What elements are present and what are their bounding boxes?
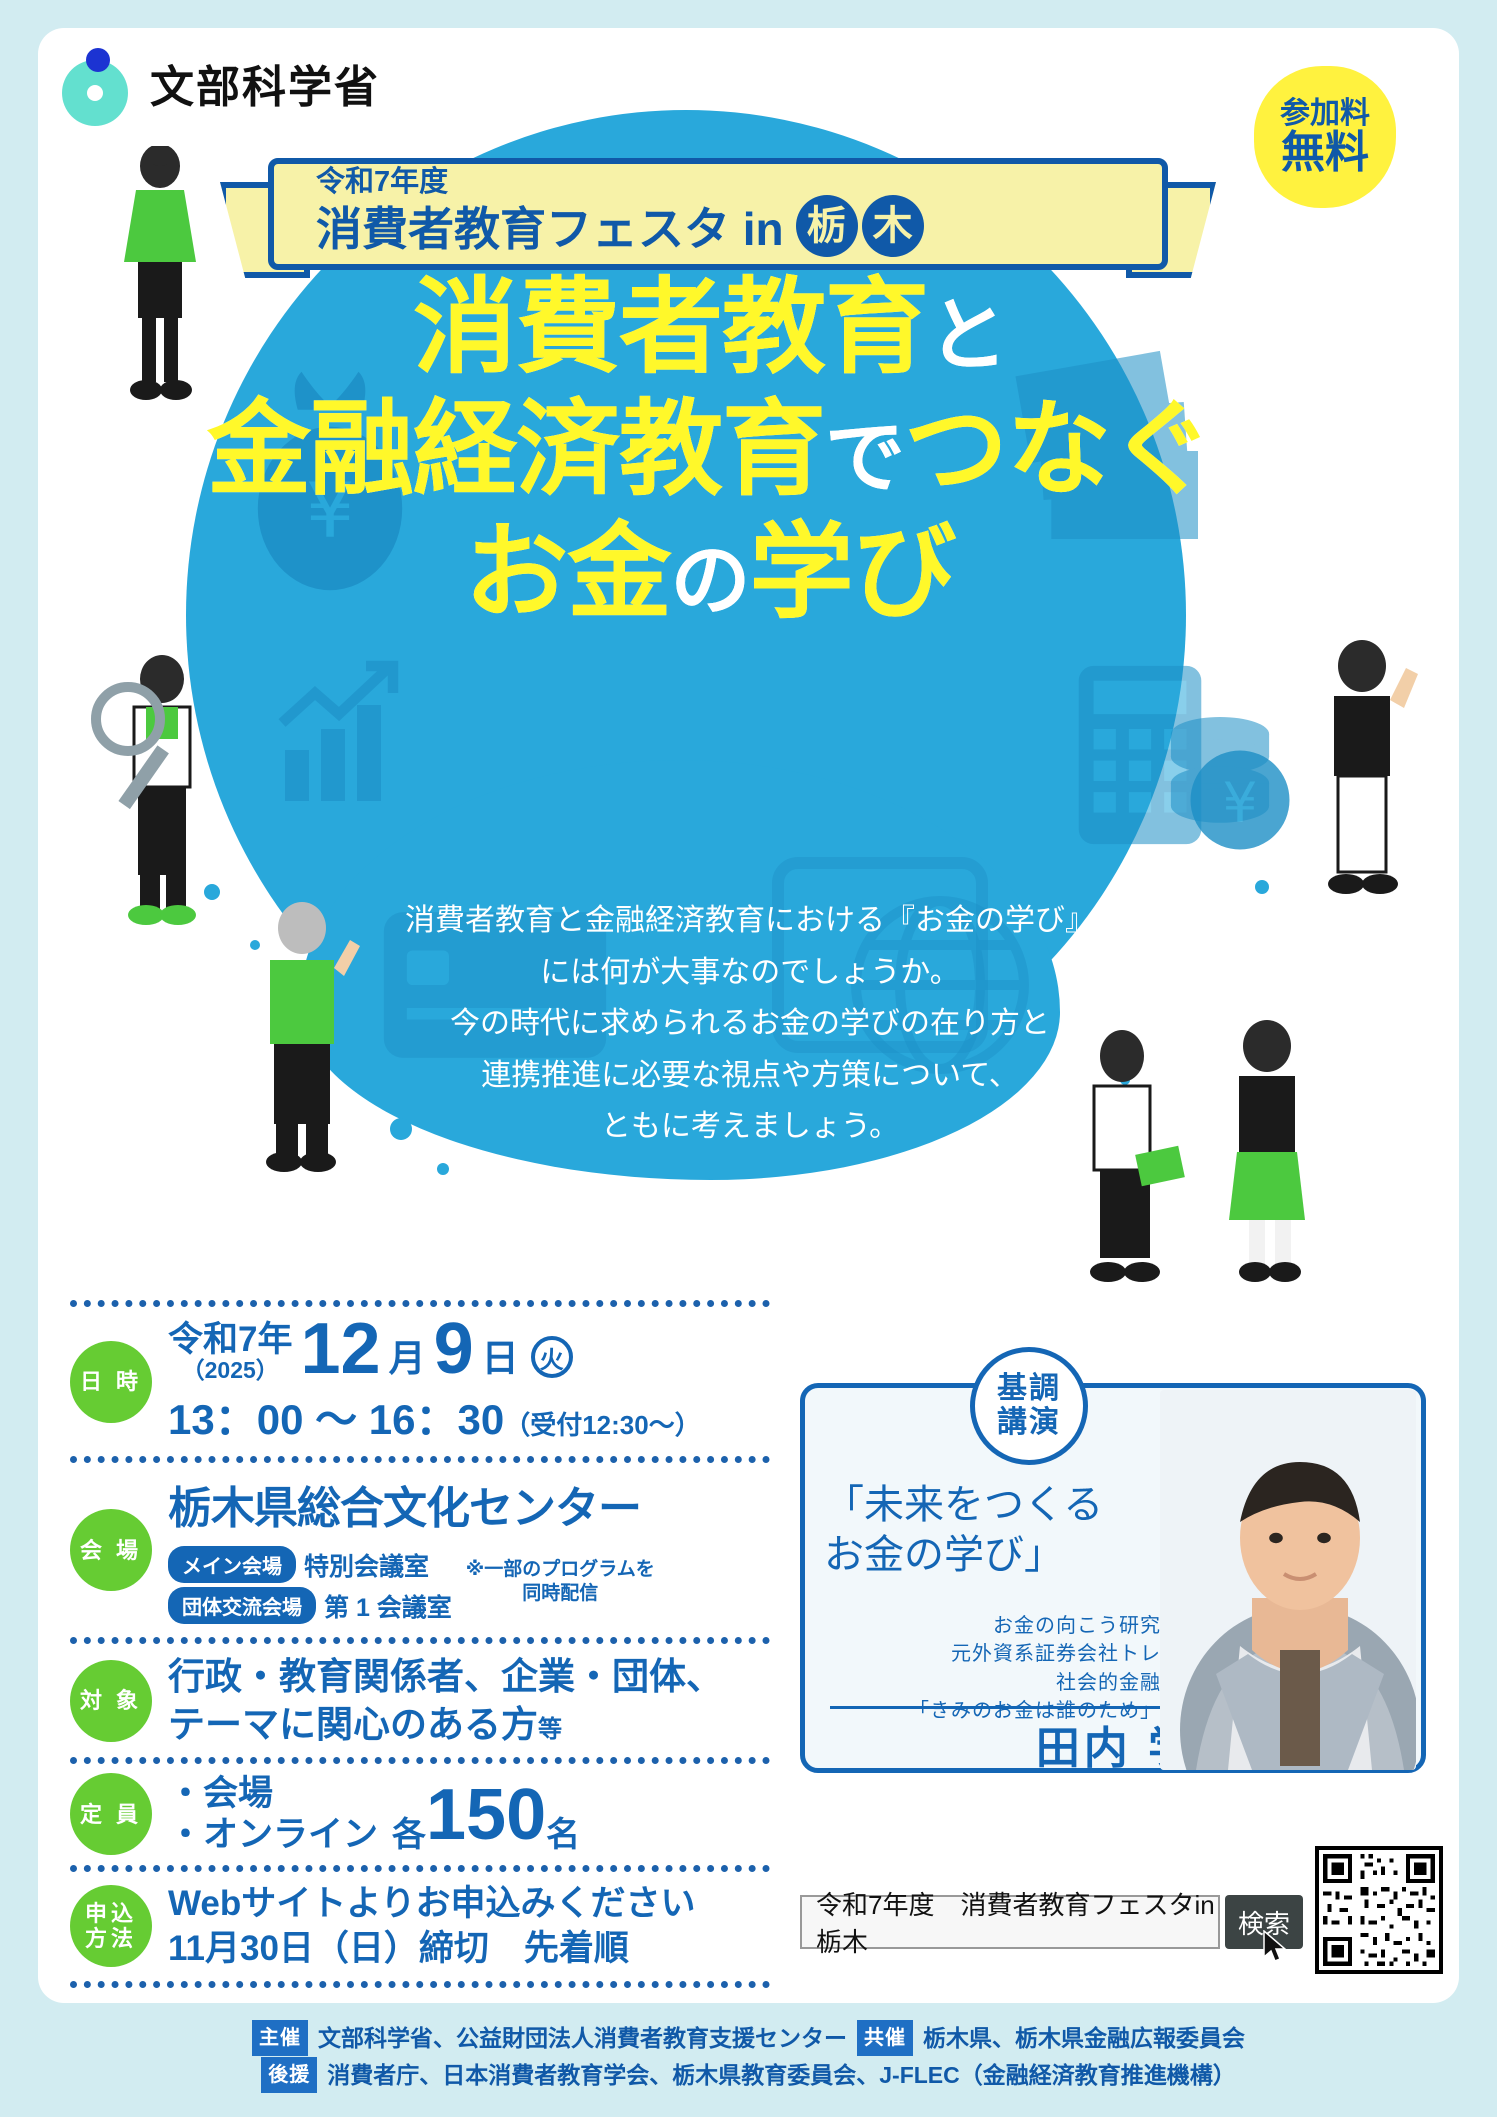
label-capacity: 定 員 xyxy=(70,1773,152,1855)
free-admission-badge: 参加料 無料 xyxy=(1254,66,1396,208)
label-target: 対 象 xyxy=(70,1660,152,1742)
datetime-time-line: 13：00 ～ 16：30（受付12:30～） xyxy=(168,1386,701,1447)
ribbon-body: 令和7年度 消費者教育フェスタ in 栃 木 xyxy=(268,158,1168,270)
datetime-day-of-week: 火 xyxy=(531,1336,573,1378)
datetime-day-number: 9 xyxy=(434,1316,474,1382)
label-apply: 申込 方法 xyxy=(70,1885,152,1967)
venue-note: ※一部のプログラムを 同時配信 xyxy=(466,1558,655,1606)
footer-tag-organizer: 主催 xyxy=(252,2020,308,2056)
venue-room-list: メイン会場 特別会議室 団体交流会場 第 1 会議室 xyxy=(168,1542,452,1628)
footer-text-cohost: 栃木県、栃木県金融広報委員会 xyxy=(923,2020,1245,2057)
capacity-modes: ・会場 ・オンライン xyxy=(168,1773,378,1856)
venue-name: 栃木県総合文化センター xyxy=(168,1472,655,1536)
separator-bottom xyxy=(70,1981,770,1988)
headline-line-1: 消費者教育と xyxy=(150,272,1270,384)
detail-row-target: 対 象 行政・教育関係者、企業・団体、 テーマに関心のある方等 xyxy=(70,1644,770,1757)
headline-3-a: お金 xyxy=(464,515,670,631)
footer-text-support: 消費者庁、日本消費者教育学会、栃木県教育委員会、J-FLEC（金融経済教育推進機… xyxy=(327,2057,1236,2094)
datetime-time: 13：00 ～ 16：30 xyxy=(168,1396,504,1443)
banner-title-row: 消費者教育フェスタ in 栃 木 xyxy=(316,199,1162,261)
keynote-badge-line2: 講演 xyxy=(997,1406,1061,1440)
target-body: 行政・教育関係者、企業・団体、 テーマに関心のある方等 xyxy=(168,1653,723,1748)
target-line-2: テーマに関心のある方等 xyxy=(168,1701,723,1748)
venue-tag-main: メイン会場 xyxy=(168,1546,296,1583)
label-apply-line1: 申込 xyxy=(85,1901,137,1926)
venue-room-row: 団体交流会場 第 1 会議室 xyxy=(168,1587,452,1624)
target-line-2-suffix: 等 xyxy=(538,1716,562,1743)
poster-root: ¥ ¥ xyxy=(0,0,1497,2117)
free-badge-line1: 参加料 xyxy=(1280,98,1370,130)
separator-after-target xyxy=(70,1757,770,1764)
event-banner: 令和7年度 消費者教育フェスタ in 栃 木 xyxy=(268,158,1168,270)
datetime-body: 令和7年 （2025） 12 月 9 日 火 13：00 ～ 16：30（受付1… xyxy=(168,1316,701,1447)
person-illustration-woman-presenter xyxy=(1050,1030,1200,1310)
label-venue-text: 会 場 xyxy=(80,1538,142,1563)
venue-room-exchange: 第 1 会議室 xyxy=(324,1588,452,1624)
detail-row-capacity: 定 員 ・会場 ・オンライン 各 150 名 xyxy=(70,1764,770,1865)
qr-code[interactable] xyxy=(1315,1846,1443,1974)
datetime-gregorian: （2025） xyxy=(168,1359,292,1382)
venue-room-main: 特別会議室 xyxy=(304,1547,429,1583)
venue-body: 栃木県総合文化センター メイン会場 特別会議室 団体交流会場 第 1 会議室 xyxy=(168,1472,655,1628)
capacity-unit: 名 xyxy=(546,1807,580,1856)
banner-location: 栃 木 xyxy=(796,199,924,261)
headline-2-b: で xyxy=(825,413,904,502)
capacity-line-1: ・会場 xyxy=(168,1773,378,1814)
headline-1-a: 消費者教育 xyxy=(413,270,928,386)
capacity-each: 各 xyxy=(392,1807,426,1856)
detail-row-venue: 会 場 栃木県総合文化センター メイン会場 特別会議室 団体交流会場 第 1 会… xyxy=(70,1463,770,1637)
keynote-badge: 基調 講演 xyxy=(970,1347,1088,1465)
datetime-month-unit: 月 xyxy=(389,1328,426,1382)
datetime-era-block: 令和7年 （2025） xyxy=(168,1322,292,1382)
capacity-line-2: ・オンライン xyxy=(168,1814,378,1855)
label-target-text: 対 象 xyxy=(80,1688,142,1713)
headline-3-b: の xyxy=(671,536,750,625)
footer-row-2: 後援 消費者庁、日本消費者教育学会、栃木県教育委員会、J-FLEC（金融経済教育… xyxy=(0,2057,1497,2094)
apply-line-2: 11月30日（日）締切 先着順 xyxy=(168,1926,696,1972)
headline-line-2: 金融経済教育でつなぐ xyxy=(150,394,1270,506)
mext-circle-logo xyxy=(62,46,136,120)
venue-note-line2: 同時配信 xyxy=(466,1582,655,1606)
datetime-month-number: 12 xyxy=(300,1316,380,1382)
footer-tag-cohost: 共催 xyxy=(857,2020,913,2056)
person-illustration-woman-standing xyxy=(96,146,226,406)
lede-line-2: には何が大事なのでしょうか。 xyxy=(300,947,1200,999)
lede-line-1: 消費者教育と金融経済教育における『お金の学び』 xyxy=(300,895,1200,947)
svg-text:¥: ¥ xyxy=(1223,771,1258,835)
label-capacity-text: 定 員 xyxy=(80,1802,142,1827)
datetime-day-unit: 日 xyxy=(482,1328,519,1382)
label-datetime: 日 時 xyxy=(70,1341,152,1423)
free-badge-line2: 無料 xyxy=(1281,130,1369,176)
search-input[interactable]: 令和7年度 消費者教育フェスタin栃木 xyxy=(800,1895,1220,1949)
ministry-name: 文部科学省 xyxy=(150,51,380,115)
label-datetime-text: 日 時 xyxy=(80,1369,142,1394)
datetime-date-line: 令和7年 （2025） 12 月 9 日 火 xyxy=(168,1316,701,1382)
detail-row-apply: 申込 方法 Webサイトよりお申込みください 11月30日（日）締切 先着順 xyxy=(70,1872,770,1981)
person-illustration-woman-thinking xyxy=(1195,1020,1345,1310)
yen-coin-icon: ¥ xyxy=(1185,745,1295,855)
venue-room-row: メイン会場 特別会議室 xyxy=(168,1546,452,1583)
headline-line-3: お金の学び xyxy=(150,517,1270,629)
footer-row-1: 主催 文部科学省、公益財団法人消費者教育支援センター 共催 栃木県、栃木県金融広… xyxy=(0,2020,1497,2057)
ministry-logo: 文部科学省 xyxy=(62,46,380,120)
apply-line-1: Webサイトよりお申込みください xyxy=(168,1881,696,1927)
location-char-1: 栃 xyxy=(796,195,858,257)
person-illustration-elder-pointing xyxy=(222,900,382,1180)
detail-row-datetime: 日 時 令和7年 （2025） 12 月 9 日 火 13：00 ～ 16：30… xyxy=(70,1307,770,1456)
target-line-2-main: テーマに関心のある方 xyxy=(168,1704,538,1745)
venue-tag-exchange: 団体交流会場 xyxy=(168,1587,316,1624)
bar-chart-growth-icon xyxy=(265,660,425,810)
datetime-reception: （受付12:30～） xyxy=(504,1410,701,1440)
datetime-era: 令和7年 xyxy=(168,1320,292,1359)
search-query-text: 令和7年度 消費者教育フェスタin栃木 xyxy=(816,1885,1218,1959)
keynote-badge-line1: 基調 xyxy=(997,1372,1061,1406)
speaker-portrait xyxy=(1160,1390,1416,1770)
capacity-body: ・会場 ・オンライン 各 150 名 xyxy=(168,1773,580,1856)
separator-after-datetime xyxy=(70,1456,770,1463)
footer-text-organizer: 文部科学省、公益財団法人消費者教育支援センター xyxy=(318,2020,847,2057)
capacity-number: 150 xyxy=(426,1774,546,1856)
event-details-list: 日 時 令和7年 （2025） 12 月 9 日 火 13：00 ～ 16：30… xyxy=(70,1300,770,1988)
banner-year: 令和7年度 xyxy=(316,168,1162,197)
headline-2-c: つなぐ xyxy=(904,392,1213,508)
headline-2-a: 金融経済教育 xyxy=(207,392,825,508)
mouse-cursor-icon xyxy=(1262,1930,1288,1964)
label-apply-line2: 方法 xyxy=(85,1926,137,1951)
headline-3-c: 学び xyxy=(750,515,956,631)
location-char-2: 木 xyxy=(862,195,924,257)
separator-after-venue xyxy=(70,1637,770,1644)
banner-title: 消費者教育フェスタ in xyxy=(316,205,784,253)
person-illustration-magnifier-man xyxy=(78,655,248,935)
footer-tag-support: 後援 xyxy=(261,2057,317,2093)
person-illustration-man-waving xyxy=(1290,640,1440,930)
apply-body: Webサイトよりお申込みください 11月30日（日）締切 先着順 xyxy=(168,1881,696,1972)
target-line-1: 行政・教育関係者、企業・団体、 xyxy=(168,1653,723,1700)
headline: 消費者教育と 金融経済教育でつなぐ お金の学び xyxy=(150,272,1270,629)
footer: 主催 文部科学省、公益財団法人消費者教育支援センター 共催 栃木県、栃木県金融広… xyxy=(0,2020,1497,2094)
label-venue: 会 場 xyxy=(70,1509,152,1591)
separator-after-capacity xyxy=(70,1865,770,1872)
separator-top xyxy=(70,1300,770,1307)
headline-1-b: と xyxy=(928,291,1007,380)
venue-note-line1: ※一部のプログラムを xyxy=(466,1558,655,1582)
